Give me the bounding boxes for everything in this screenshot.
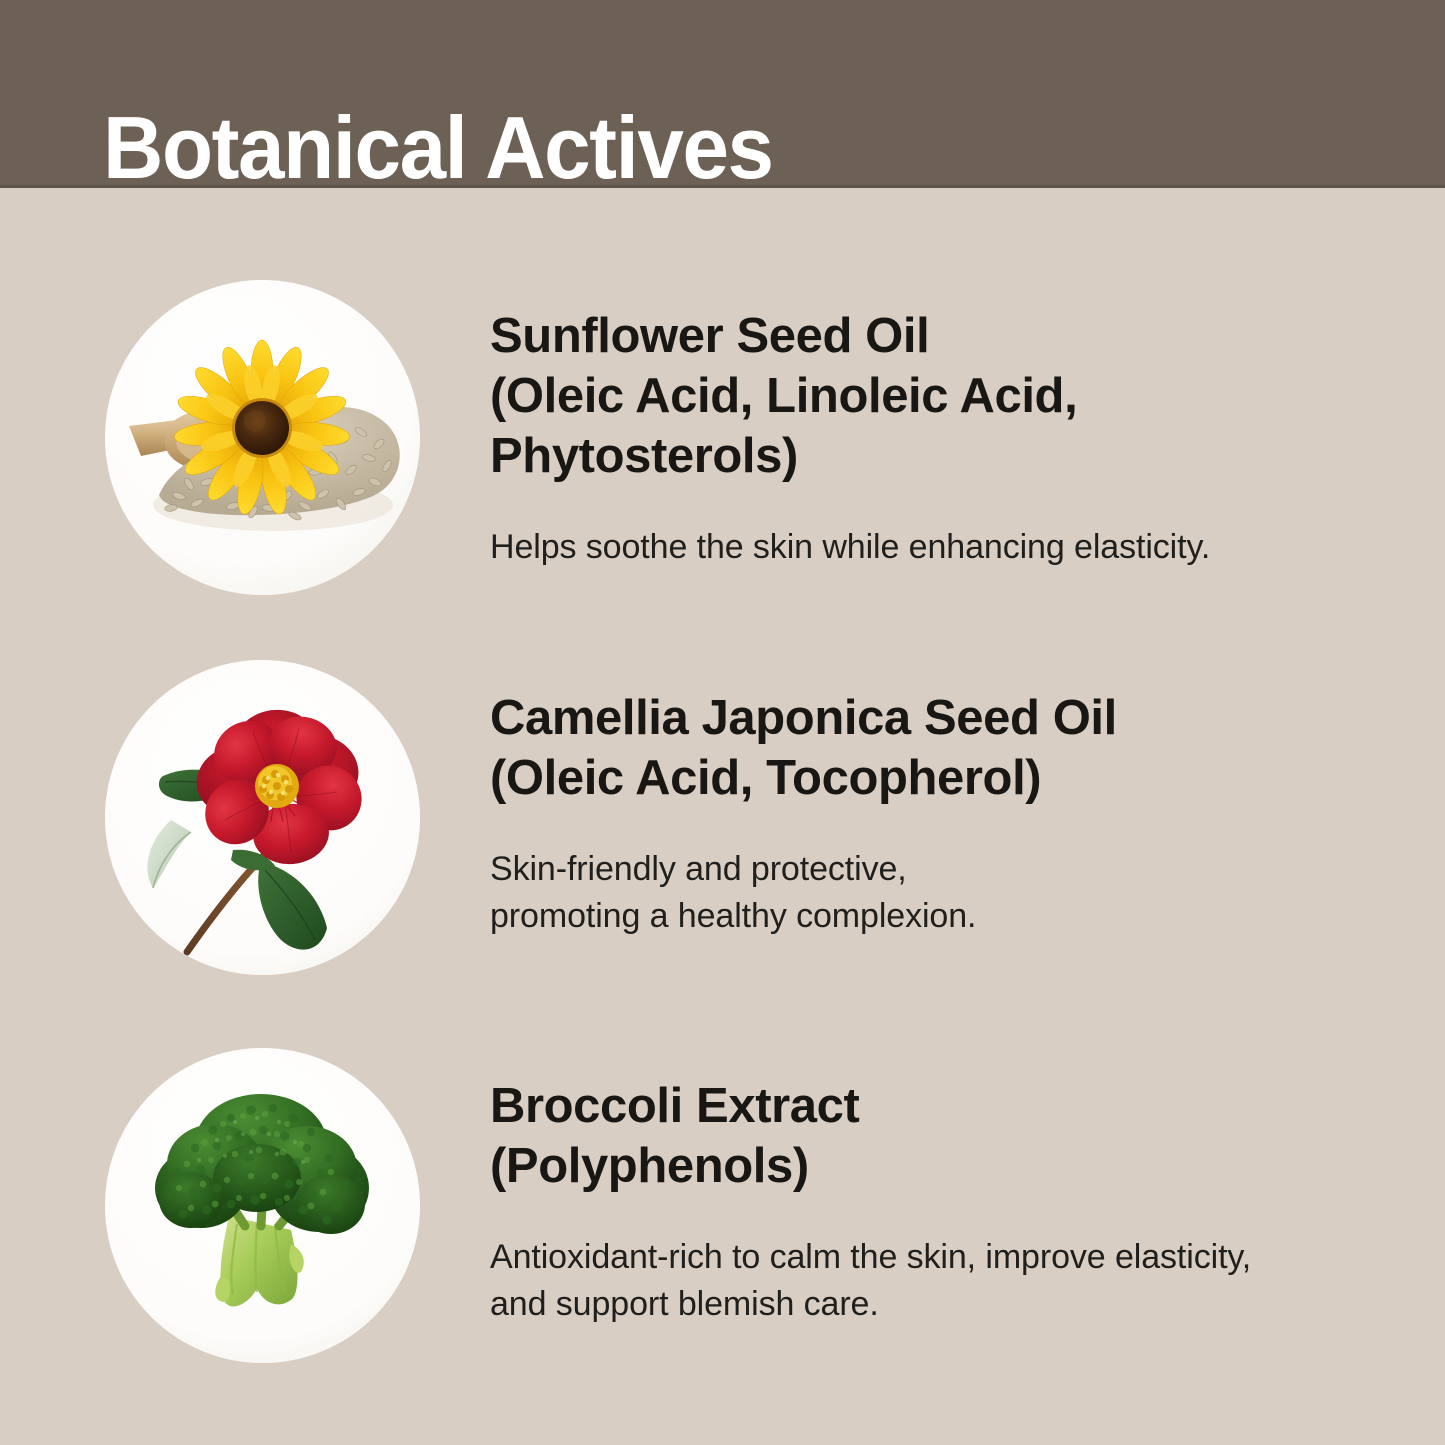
page-title: Botanical Actives — [103, 110, 773, 186]
ingredient-text-block: Broccoli Extract (Polyphenols) Antioxida… — [490, 1048, 1390, 1328]
ingredient-description: Antioxidant-rich to calm the skin, impro… — [490, 1196, 1390, 1328]
ingredient-name: Broccoli Extract (Polyphenols) — [490, 1048, 1390, 1196]
broccoli-photo — [105, 1048, 420, 1363]
camellia-flower-photo — [105, 660, 420, 975]
ingredient-text-block: Camellia Japonica Seed Oil (Oleic Acid, … — [490, 660, 1390, 940]
ingredient-text-block: Sunflower Seed Oil (Oleic Acid, Linoleic… — [490, 280, 1390, 571]
ingredient-name: Sunflower Seed Oil (Oleic Acid, Linoleic… — [490, 280, 1390, 486]
sunflower-seed-photo — [105, 280, 420, 595]
ingredient-description: Helps soothe the skin while enhancing el… — [490, 486, 1390, 571]
ingredient-name: Camellia Japonica Seed Oil (Oleic Acid, … — [490, 660, 1390, 808]
page-header: Botanical Actives — [0, 0, 1445, 188]
ingredient-description: Skin-friendly and protective, promoting … — [490, 808, 1390, 940]
